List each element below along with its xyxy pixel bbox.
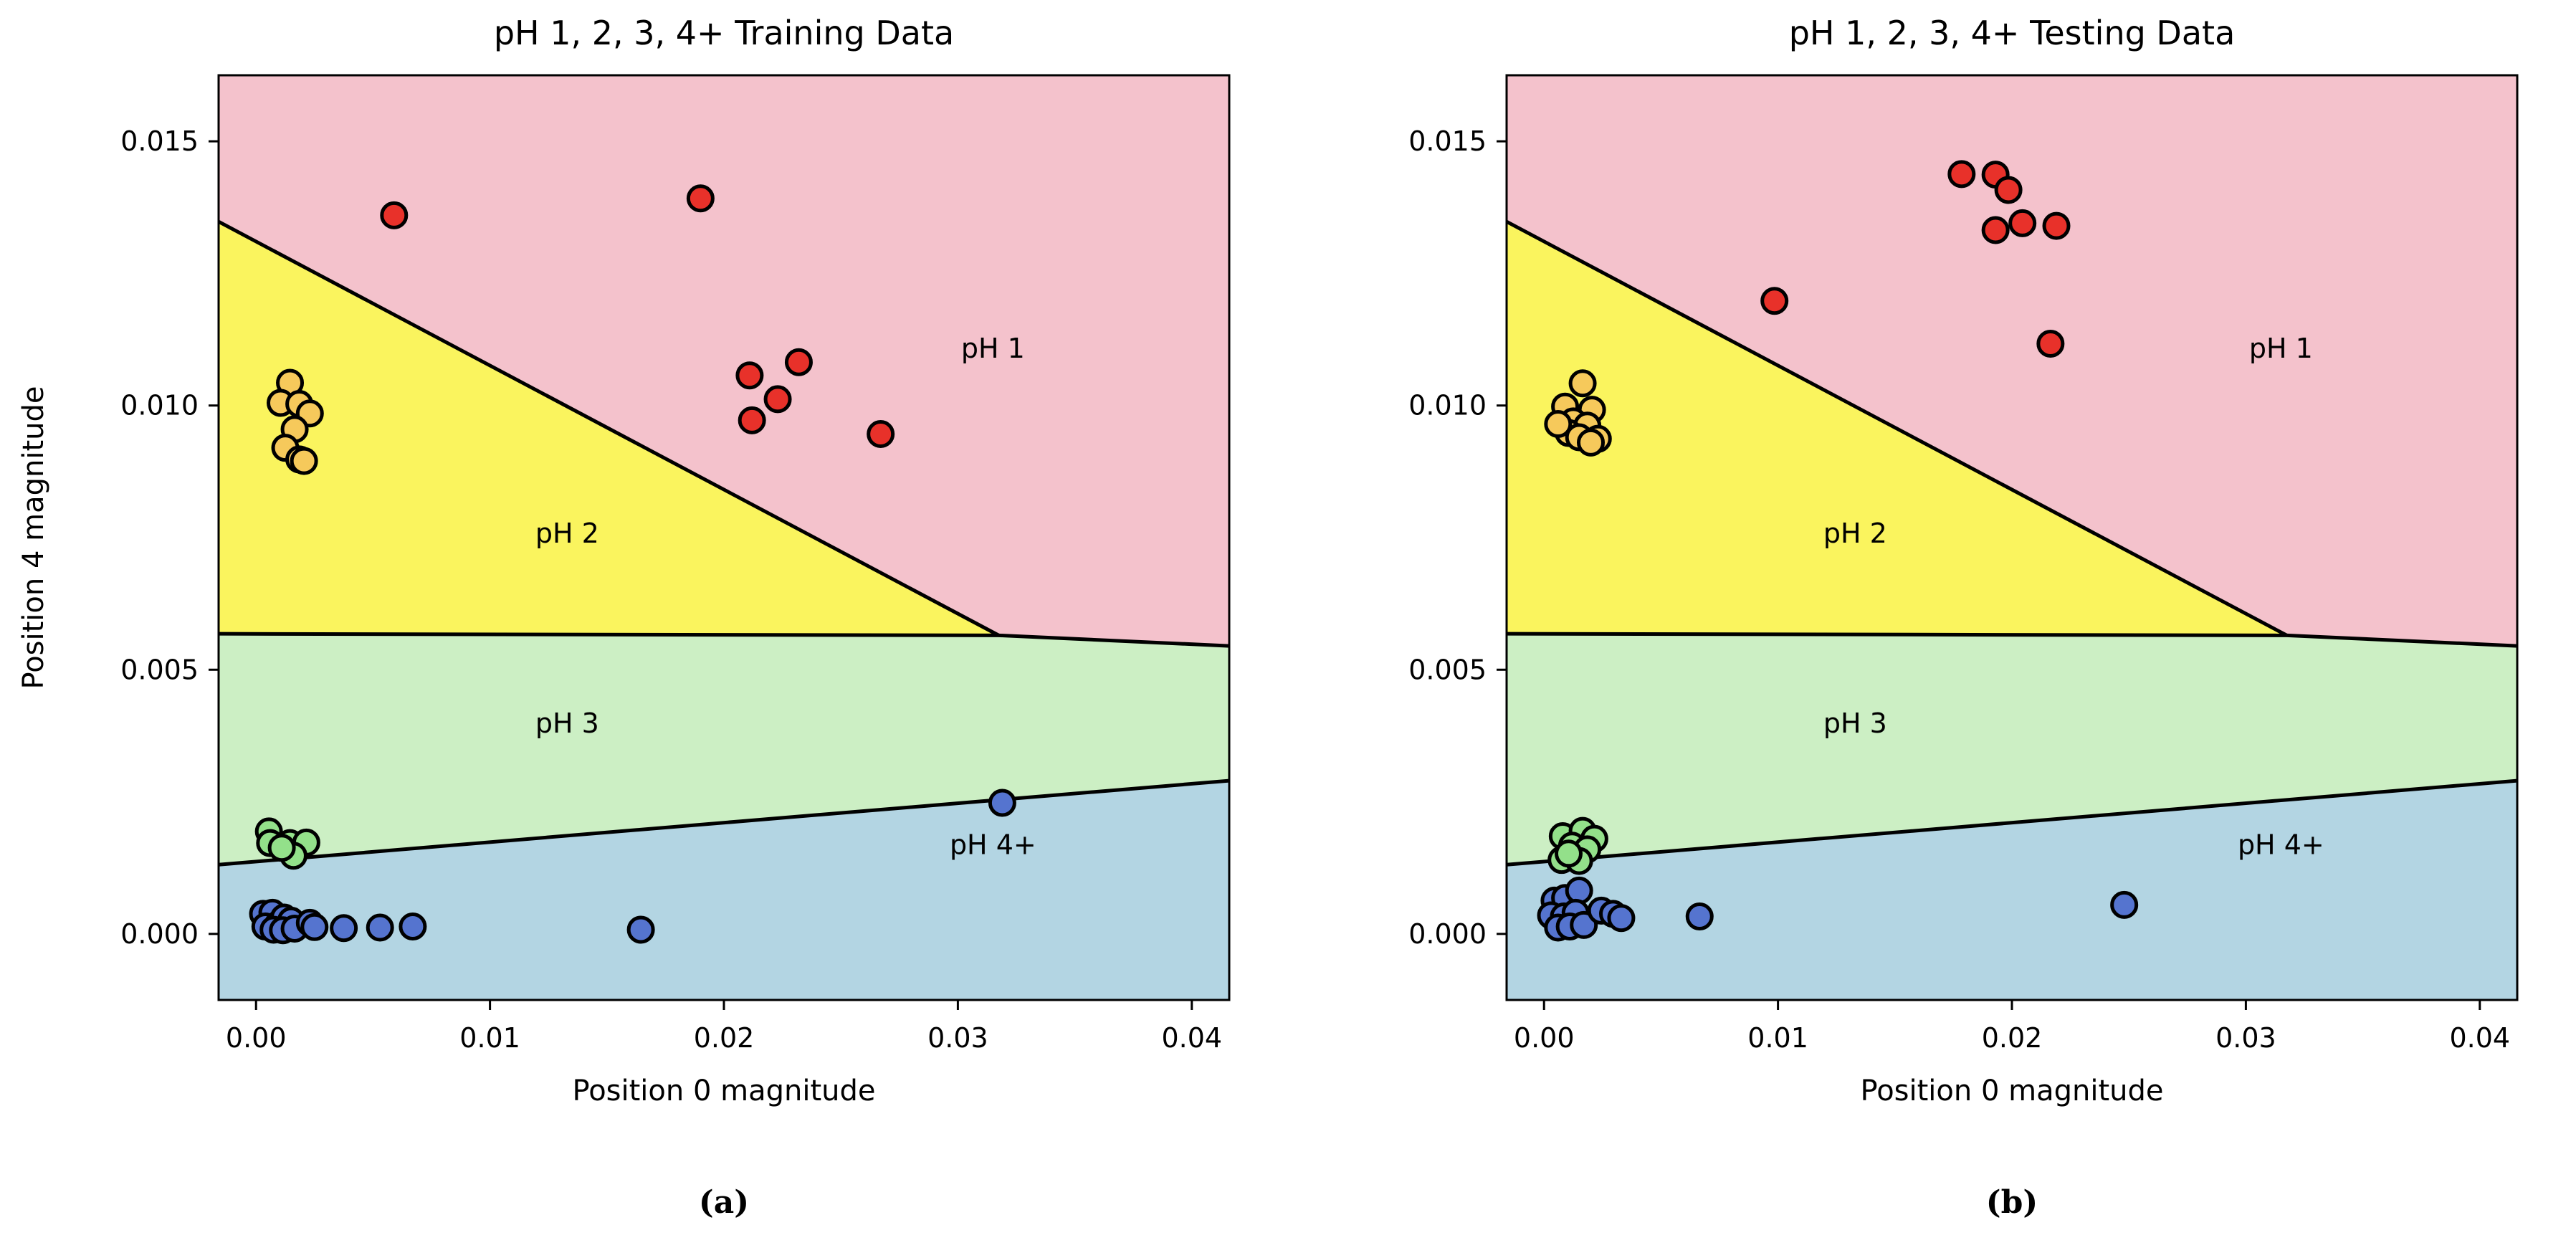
region-label-ph-2: pH 2	[535, 518, 599, 549]
x-tick-label: 0.03	[927, 1022, 988, 1054]
figure-container: pH 1pH 2pH 3pH 4+0.000.010.020.030.040.0…	[0, 0, 2576, 1253]
y-tick-label: 0.015	[120, 125, 199, 157]
y-tick-label: 0.010	[120, 390, 199, 421]
data-point	[1983, 218, 2008, 242]
x-tick-label: 0.00	[1514, 1022, 1575, 1054]
data-point	[292, 449, 316, 473]
x-tick-label: 0.03	[2215, 1022, 2276, 1054]
data-point	[332, 916, 356, 940]
subplot-panel-b: pH 1pH 2pH 3pH 4+0.000.010.020.030.040.0…	[1288, 0, 2576, 1253]
x-tick-label: 0.00	[226, 1022, 287, 1054]
region-label-ph-4: pH 4+	[950, 829, 1036, 861]
decision-region-group: pH 1pH 2pH 3pH 4+	[219, 75, 1229, 1000]
plot-title: pH 1, 2, 3, 4+ Training Data	[494, 14, 954, 52]
data-point	[2112, 892, 2137, 917]
decision-boundary-ph2-ph3	[1507, 634, 2287, 635]
data-point	[1609, 906, 1633, 930]
scatter-plot-b: pH 1pH 2pH 3pH 4+0.000.010.020.030.040.0…	[1288, 0, 2576, 1253]
region-label-ph-2: pH 2	[1823, 518, 1887, 549]
data-point	[2038, 331, 2063, 356]
data-point	[740, 408, 764, 432]
data-point	[1579, 430, 1603, 454]
region-label-ph-1: pH 1	[961, 333, 1025, 364]
decision-region-group: pH 1pH 2pH 3pH 4+	[1507, 75, 2517, 1000]
plot-title: pH 1, 2, 3, 4+ Testing Data	[1789, 14, 2236, 52]
data-point	[786, 350, 811, 374]
data-point	[382, 203, 406, 227]
data-point	[2044, 214, 2069, 238]
x-axis-label: Position 0 magnitude	[1861, 1075, 2164, 1107]
data-point	[302, 915, 327, 939]
y-tick-label: 0.005	[120, 654, 199, 685]
data-point	[401, 915, 425, 939]
x-tick-label: 0.02	[694, 1022, 755, 1054]
data-point	[738, 363, 762, 388]
data-point	[1687, 905, 1712, 929]
y-tick-label: 0.005	[1408, 654, 1487, 685]
x-tick-label: 0.01	[459, 1022, 520, 1054]
subfigure-label: (b)	[1986, 1184, 2038, 1221]
data-point	[990, 791, 1014, 815]
x-axis-label: Position 0 magnitude	[573, 1075, 876, 1107]
data-point	[1570, 371, 1595, 396]
x-tick-label: 0.02	[1982, 1022, 2043, 1054]
data-point	[688, 186, 712, 211]
data-point	[629, 918, 653, 942]
subplot-panel-a: pH 1pH 2pH 3pH 4+0.000.010.020.030.040.0…	[0, 0, 1288, 1253]
data-point	[1996, 178, 2021, 202]
y-tick-label: 0.015	[1408, 125, 1487, 157]
data-point	[1546, 412, 1570, 437]
y-tick-label: 0.010	[1408, 390, 1487, 421]
region-label-ph-4: pH 4+	[2238, 829, 2324, 861]
region-label-ph-3: pH 3	[1823, 708, 1887, 739]
x-tick-label: 0.01	[1747, 1022, 1808, 1054]
x-tick-label: 0.04	[1161, 1022, 1222, 1054]
decision-boundary-ph2-ph3	[219, 634, 999, 635]
data-point	[368, 915, 392, 940]
region-label-ph-1: pH 1	[2249, 333, 2313, 364]
data-point	[1950, 162, 1974, 186]
data-point	[1556, 842, 1580, 866]
y-tick-label: 0.000	[1408, 918, 1487, 950]
region-label-ph-3: pH 3	[535, 708, 599, 739]
x-tick-label: 0.04	[2449, 1022, 2510, 1054]
scatter-plot-a: pH 1pH 2pH 3pH 4+0.000.010.020.030.040.0…	[0, 0, 1288, 1253]
data-point	[2010, 211, 2035, 235]
subfigure-label: (a)	[699, 1184, 749, 1221]
data-point	[765, 387, 790, 411]
data-point	[1762, 289, 1787, 313]
data-point	[1567, 878, 1591, 902]
data-point	[269, 836, 294, 860]
y-tick-label: 0.000	[120, 918, 199, 950]
y-axis-label: Position 4 magnitude	[17, 386, 50, 690]
data-point	[869, 422, 893, 447]
